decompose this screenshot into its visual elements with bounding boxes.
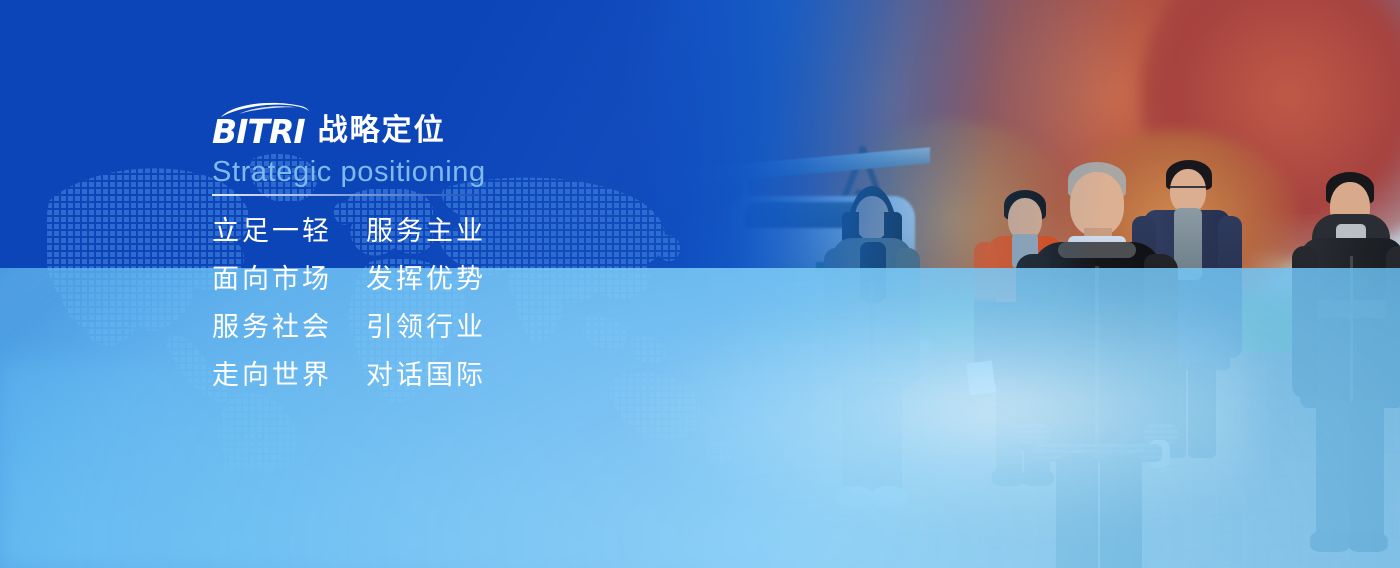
slogan-left: 立足一轻 xyxy=(212,218,332,245)
slogan-right: 服务主业 xyxy=(366,218,486,245)
page-title-cn: 战略定位 xyxy=(318,116,446,148)
title-divider xyxy=(212,194,492,196)
strategic-positioning-banner: BITRI 战略定位 Strategic positioning 立足一轻 服务… xyxy=(0,0,1400,568)
slogan-left: 面向市场 xyxy=(212,266,332,293)
slogan-right: 发挥优势 xyxy=(366,266,486,293)
slogan-right: 引领行业 xyxy=(366,314,486,341)
bitri-logo: BITRI xyxy=(212,104,305,148)
slogan-list: 立足一轻 服务主业 面向市场 发挥优势 服务社会 引领行业 走向世界 对话国际 xyxy=(212,218,632,389)
slogan-right: 对话国际 xyxy=(366,362,486,389)
slogan-row: 走向世界 对话国际 xyxy=(212,362,632,389)
slogan-row: 服务社会 引领行业 xyxy=(212,314,632,341)
slogan-row: 面向市场 发挥优势 xyxy=(212,266,632,293)
brand-row: BITRI 战略定位 xyxy=(212,104,632,148)
slogan-left: 走向世界 xyxy=(212,362,332,389)
bitri-wordmark: BITRI xyxy=(212,115,305,148)
slogan-left: 服务社会 xyxy=(212,314,332,341)
banner-text-block: BITRI 战略定位 Strategic positioning 立足一轻 服务… xyxy=(212,104,632,389)
slogan-row: 立足一轻 服务主业 xyxy=(212,218,632,245)
subtitle-en: Strategic positioning xyxy=(212,157,632,189)
